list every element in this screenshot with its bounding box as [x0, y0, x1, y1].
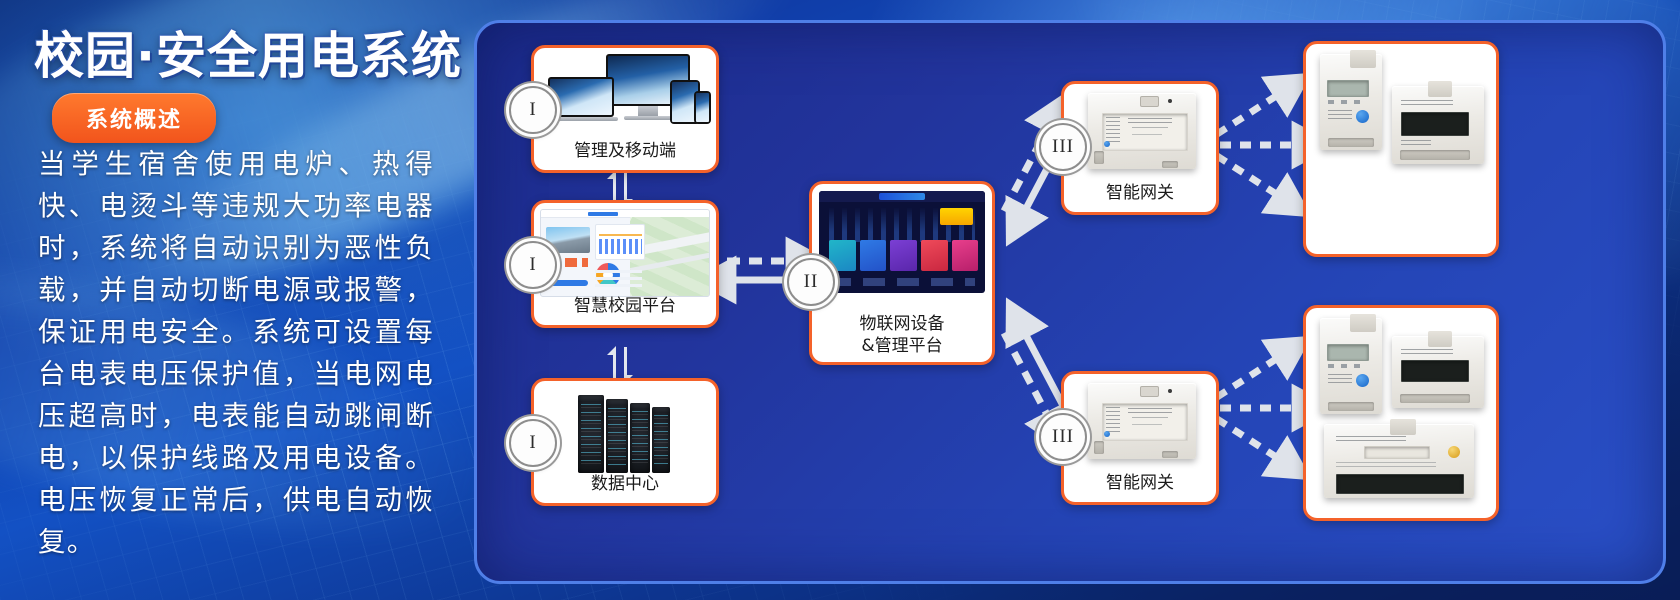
node-meters-bottom[interactable] [1303, 305, 1499, 521]
node-label: 管理及移动端 [534, 140, 716, 162]
node-data-center[interactable]: 数据中心 [531, 378, 719, 506]
node-management-mobile[interactable]: 管理及移动端 [531, 45, 719, 173]
left-column: 校园·安全用电系统 系统概述 当学生宿舍使用电炉、热得快、电烫斗等违规大功率电器… [0, 0, 470, 600]
badge-roman-1-campus: I [509, 241, 557, 289]
badge-roman-3-gateway-bottom: III [1039, 413, 1087, 461]
poster-root: 校园·安全用电系统 系统概述 当学生宿舍使用电炉、热得快、电烫斗等违规大功率电器… [0, 0, 1680, 600]
badge-roman-1-management: I [509, 86, 557, 134]
node-label: 物联网设备 [812, 313, 992, 335]
node-meters-top[interactable] [1303, 41, 1499, 257]
wire-iot-to-gateway-bottom [1004, 324, 1069, 426]
badge-roman-3-gateway-top: III [1039, 123, 1087, 171]
badge-roman-1-datacenter: I [509, 419, 557, 467]
node-label: 智能网关 [1064, 182, 1216, 204]
badge-roman-2-iot: II [787, 258, 835, 306]
section-badge-system-overview: 系统概述 [52, 93, 216, 143]
node-label: 数据中心 [534, 473, 716, 495]
page-title: 校园·安全用电系统 [34, 16, 464, 88]
node-iot-platform[interactable]: 物联网设备 &管理平台 [809, 181, 995, 365]
node-label-secondary: &管理平台 [812, 335, 992, 357]
node-label: 智能网关 [1064, 472, 1216, 494]
architecture-diagram-panel: 管理及移动端 I 智慧校园平台 [474, 20, 1666, 584]
node-label-group: 物联网设备 &管理平台 [812, 313, 992, 357]
node-smart-campus[interactable]: 智慧校园平台 [531, 200, 719, 328]
node-label: 智慧校园平台 [534, 295, 716, 317]
overview-paragraph: 当学生宿舍使用电炉、热得快、电烫斗等违规大功率电器时，系统将自动识别为恶性负载，… [38, 143, 434, 563]
